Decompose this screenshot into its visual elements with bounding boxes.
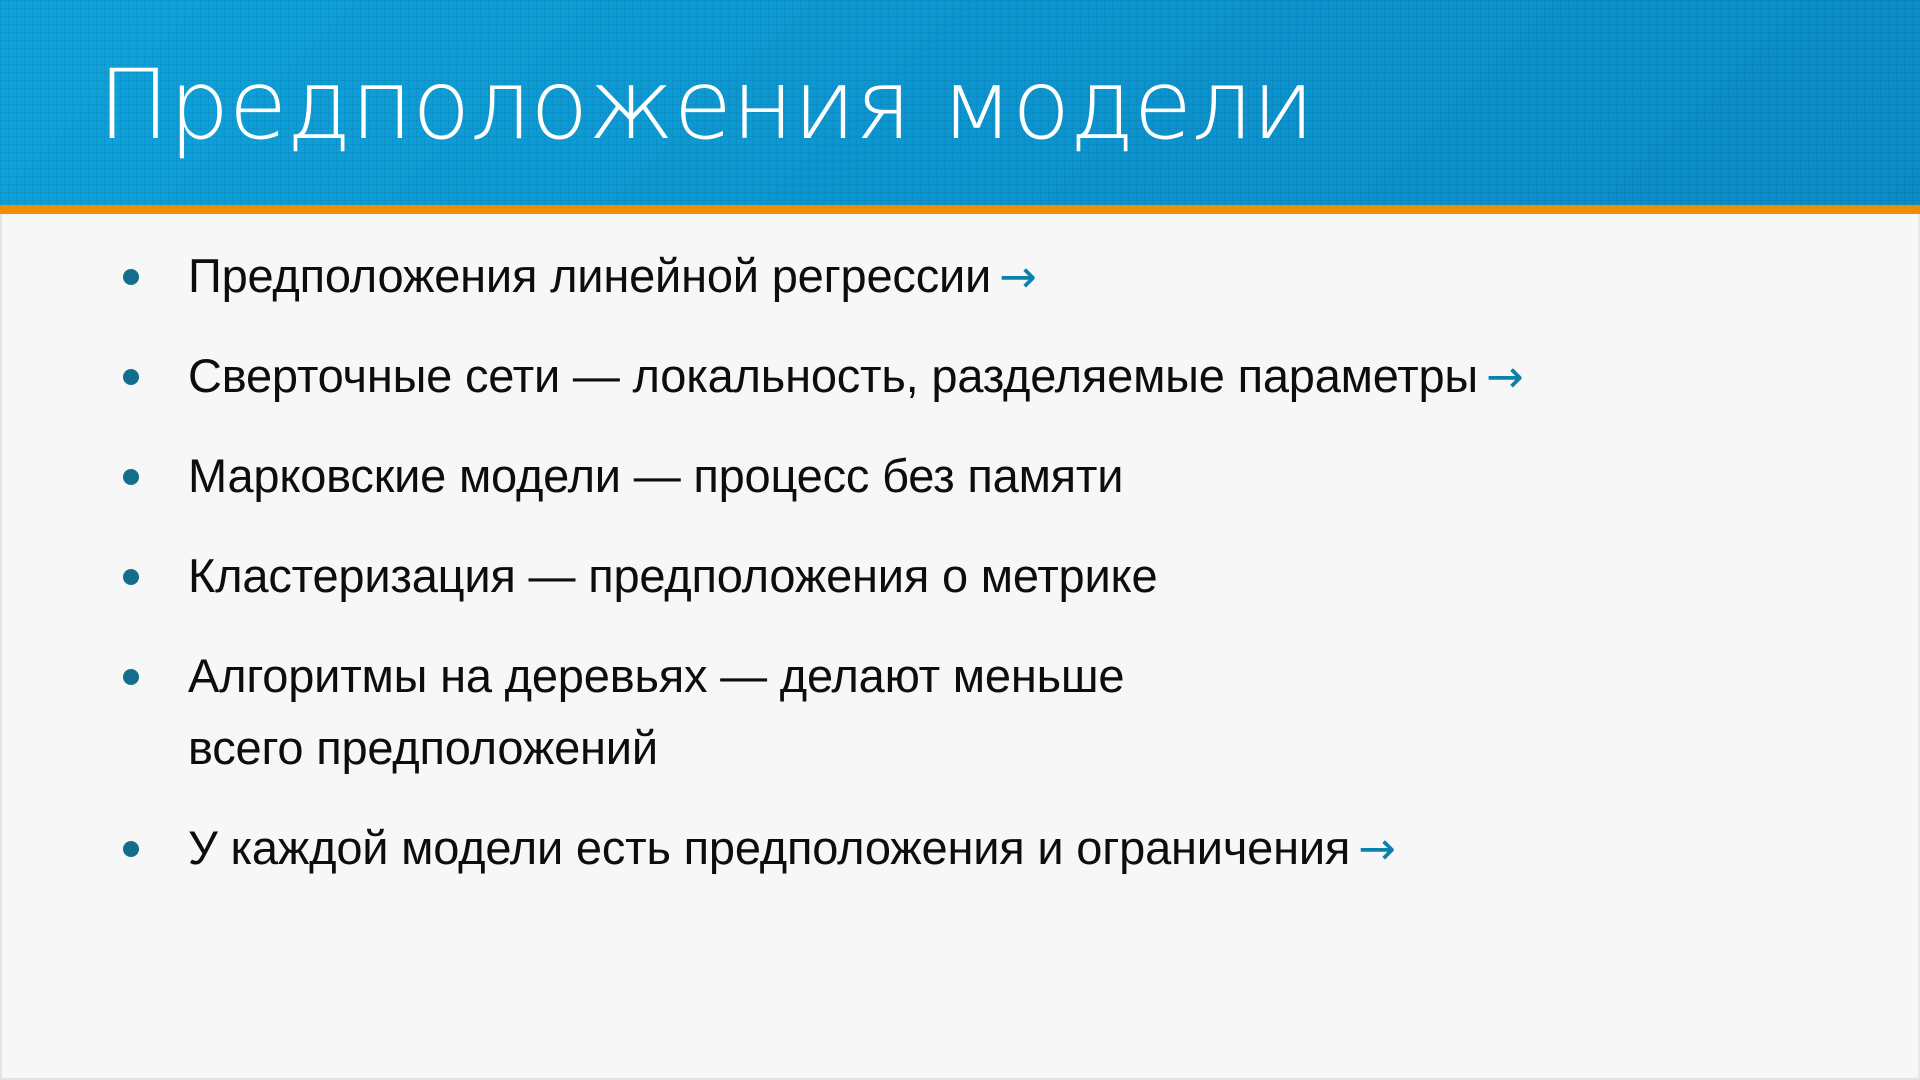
- list-item: Кластеризация — предположения о метрике: [2, 540, 1920, 613]
- bullet-dot-icon: [123, 569, 139, 585]
- presentation-slide: Предположения модели Предположения линей…: [0, 0, 1920, 1080]
- list-item-label: Кластеризация — предположения о метрике: [188, 549, 1157, 602]
- page-title: Предположения модели: [98, 52, 1314, 160]
- arrow-right-icon: [1123, 450, 1131, 503]
- arrow-right-icon[interactable]: →: [1350, 822, 1396, 875]
- list-item-label: Алгоритмы на деревьях — делают меньше вс…: [188, 649, 1124, 774]
- bullet-dot-icon: [123, 269, 139, 285]
- arrow-right-icon: [658, 722, 666, 775]
- list-item-label: Сверточные сети — локальность, разделяем…: [188, 349, 1478, 402]
- bullet-dot-icon: [123, 369, 139, 385]
- list-item-label: У каждой модели есть предположения и огр…: [188, 821, 1350, 874]
- bullet-dot-icon: [123, 841, 139, 857]
- list-item: Сверточные сети — локальность, разделяем…: [2, 340, 1920, 413]
- bullet-dot-icon: [123, 469, 139, 485]
- slide-body: Предположения линейной регрессии→ Сверто…: [0, 214, 1920, 1080]
- list-item: Марковские модели — процесс без памяти: [2, 440, 1920, 513]
- list-item: У каждой модели есть предположения и огр…: [2, 812, 1920, 885]
- list-item: Алгоритмы на деревьях — делают меньше вс…: [2, 640, 1920, 785]
- bullet-dot-icon: [123, 669, 139, 685]
- arrow-right-icon[interactable]: →: [1478, 350, 1524, 403]
- arrow-right-icon: [1157, 550, 1165, 603]
- accent-divider: [0, 205, 1920, 214]
- slide-header-band: Предположения модели: [0, 0, 1920, 205]
- list-item-label: Марковские модели — процесс без памяти: [188, 449, 1123, 502]
- arrow-right-icon[interactable]: →: [991, 250, 1037, 303]
- bullet-list: Предположения линейной регрессии→ Сверто…: [2, 240, 1920, 885]
- list-item: Предположения линейной регрессии→: [2, 240, 1920, 313]
- list-item-label: Предположения линейной регрессии: [188, 249, 991, 302]
